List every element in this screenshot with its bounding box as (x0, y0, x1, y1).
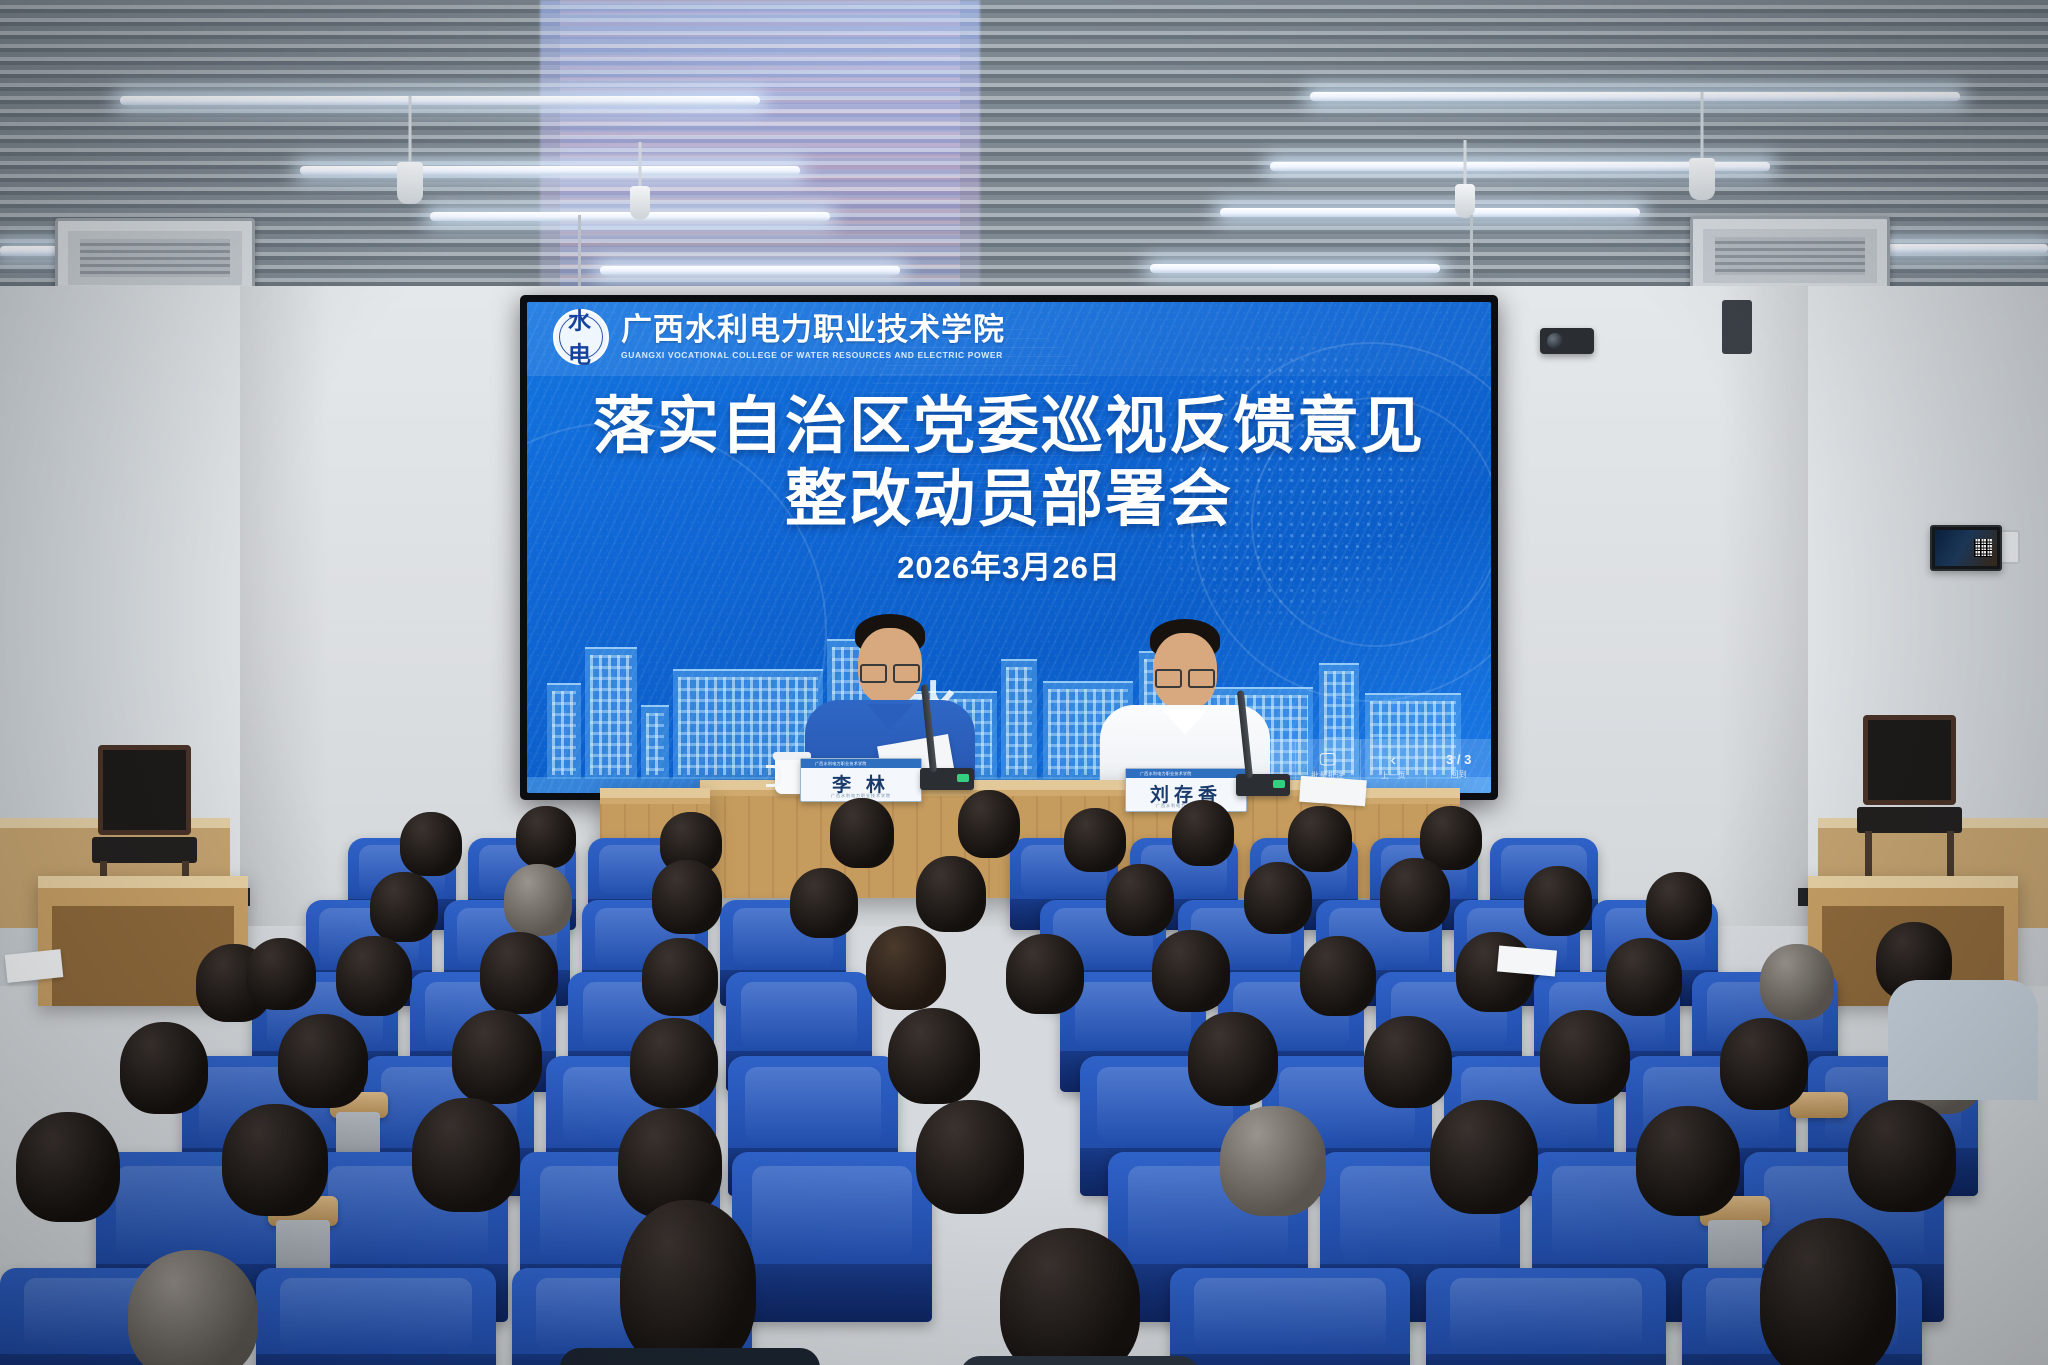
photo-vignette (0, 0, 2048, 1365)
conference-room-scene: 水电 广西水利电力职业技术学院 GUANGXI VOCATIONAL COLLE… (0, 0, 2048, 1365)
